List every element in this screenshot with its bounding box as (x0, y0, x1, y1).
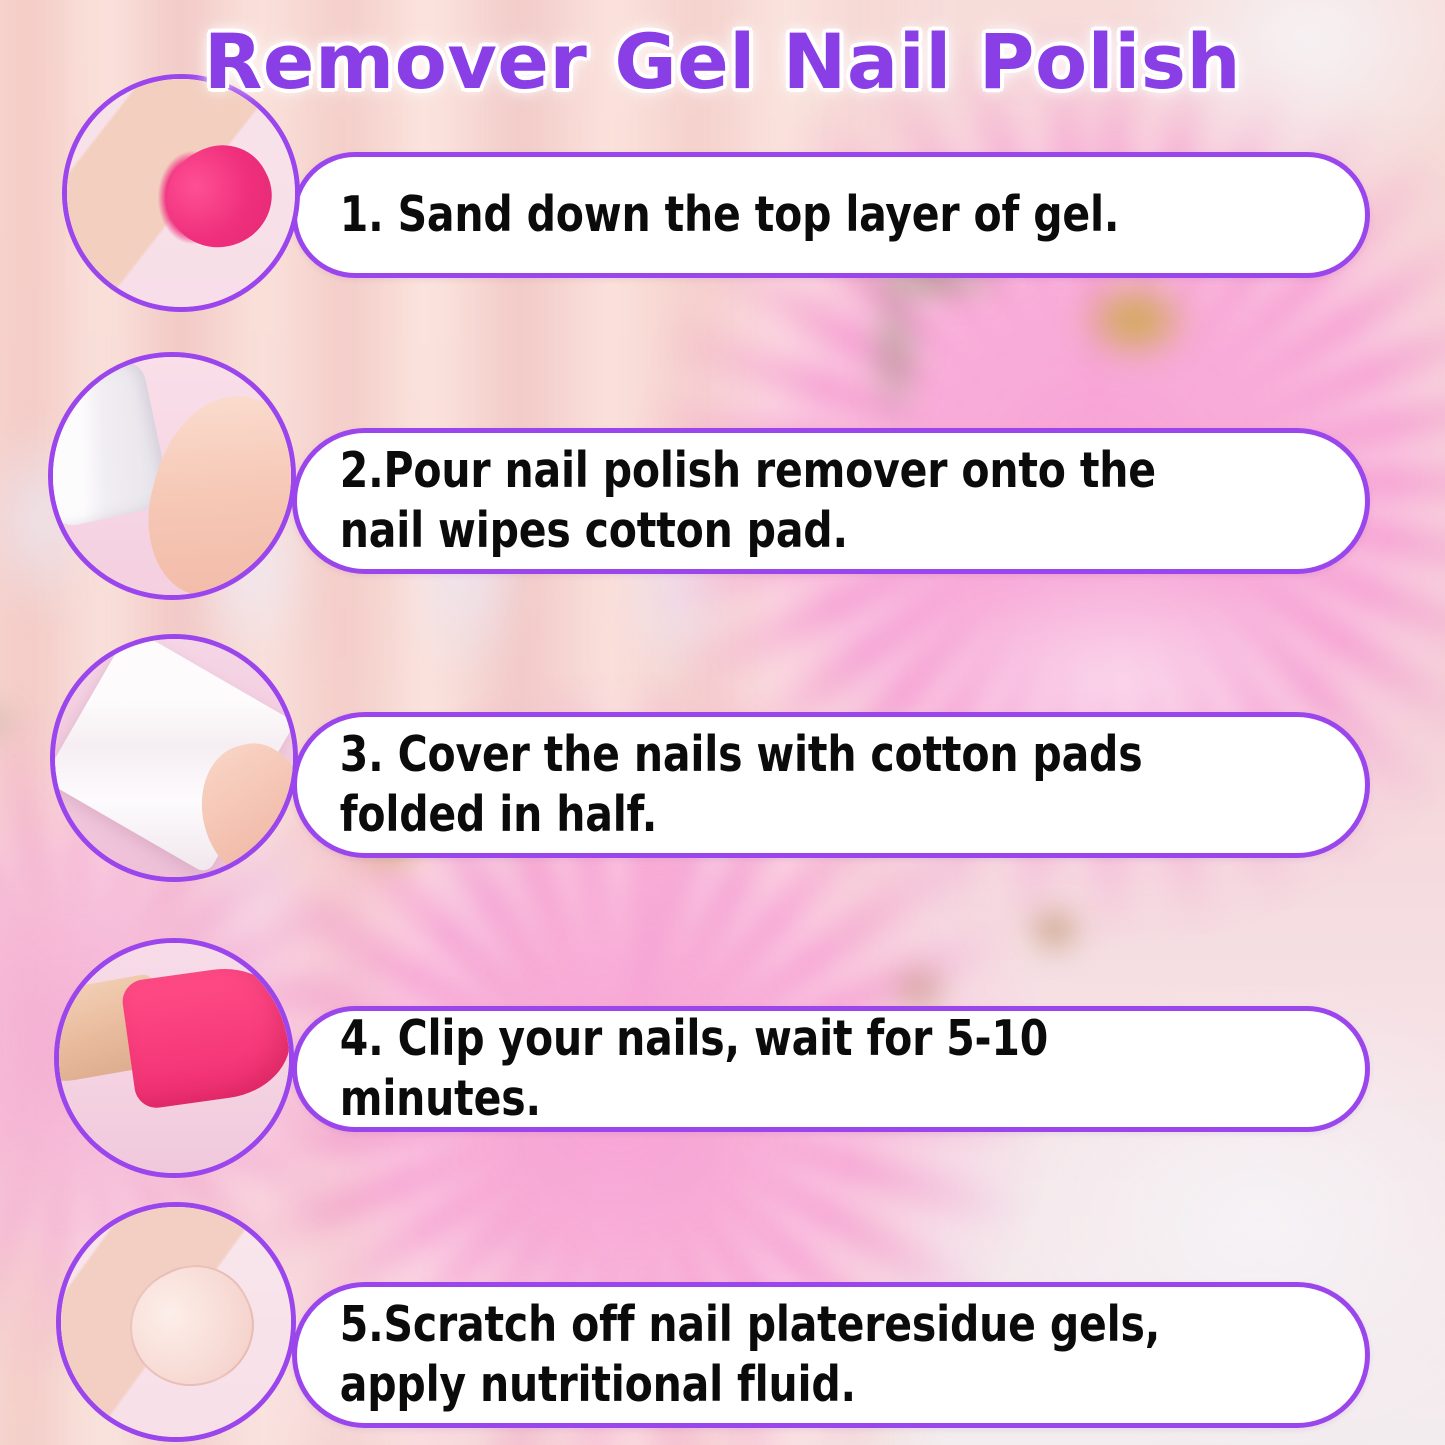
product-infographic-poster: Remover Gel Nail Polish 1. Sand down the… (0, 0, 1445, 1445)
step-1-text: 1. Sand down the top layer of gel. (297, 185, 1175, 245)
step-5-thumbnail (56, 1202, 296, 1442)
page-title: Remover Gel Nail Polish (0, 16, 1445, 108)
pink-nail-clip-on-finger-photo (59, 943, 289, 1173)
step-2-text: 2.Pour nail polish remover onto the nail… (297, 441, 1212, 561)
finger-with-pink-gel-polish-photo (67, 79, 295, 307)
step-4-callout: 4. Clip your nails, wait for 5-10 minute… (292, 1006, 1370, 1132)
step-2-callout: 2.Pour nail polish remover onto the nail… (292, 428, 1370, 574)
step-3-thumbnail (50, 634, 298, 882)
step-2-thumbnail (48, 352, 296, 600)
step-3-callout: 3. Cover the nails with cotton pads fold… (292, 712, 1370, 858)
step-3-text: 3. Cover the nails with cotton pads fold… (297, 725, 1198, 845)
step-4-text: 4. Clip your nails, wait for 5-10 minute… (297, 1009, 1290, 1129)
folded-cotton-pad-in-fingers-photo (55, 639, 293, 877)
step-1-callout: 1. Sand down the top layer of gel. (292, 152, 1370, 278)
step-4-thumbnail (54, 938, 294, 1178)
step-5-text: 5.Scratch off nail plateresidue gels, ap… (297, 1295, 1216, 1415)
step-1-thumbnail (62, 74, 300, 312)
step-5-callout: 5.Scratch off nail plateresidue gels, ap… (292, 1282, 1370, 1428)
clean-bare-nail-photo (61, 1207, 291, 1437)
steps-list: 1. Sand down the top layer of gel. 2.Pou… (0, 0, 1445, 1445)
pouring-remover-onto-cotton-pad-photo (53, 357, 291, 595)
